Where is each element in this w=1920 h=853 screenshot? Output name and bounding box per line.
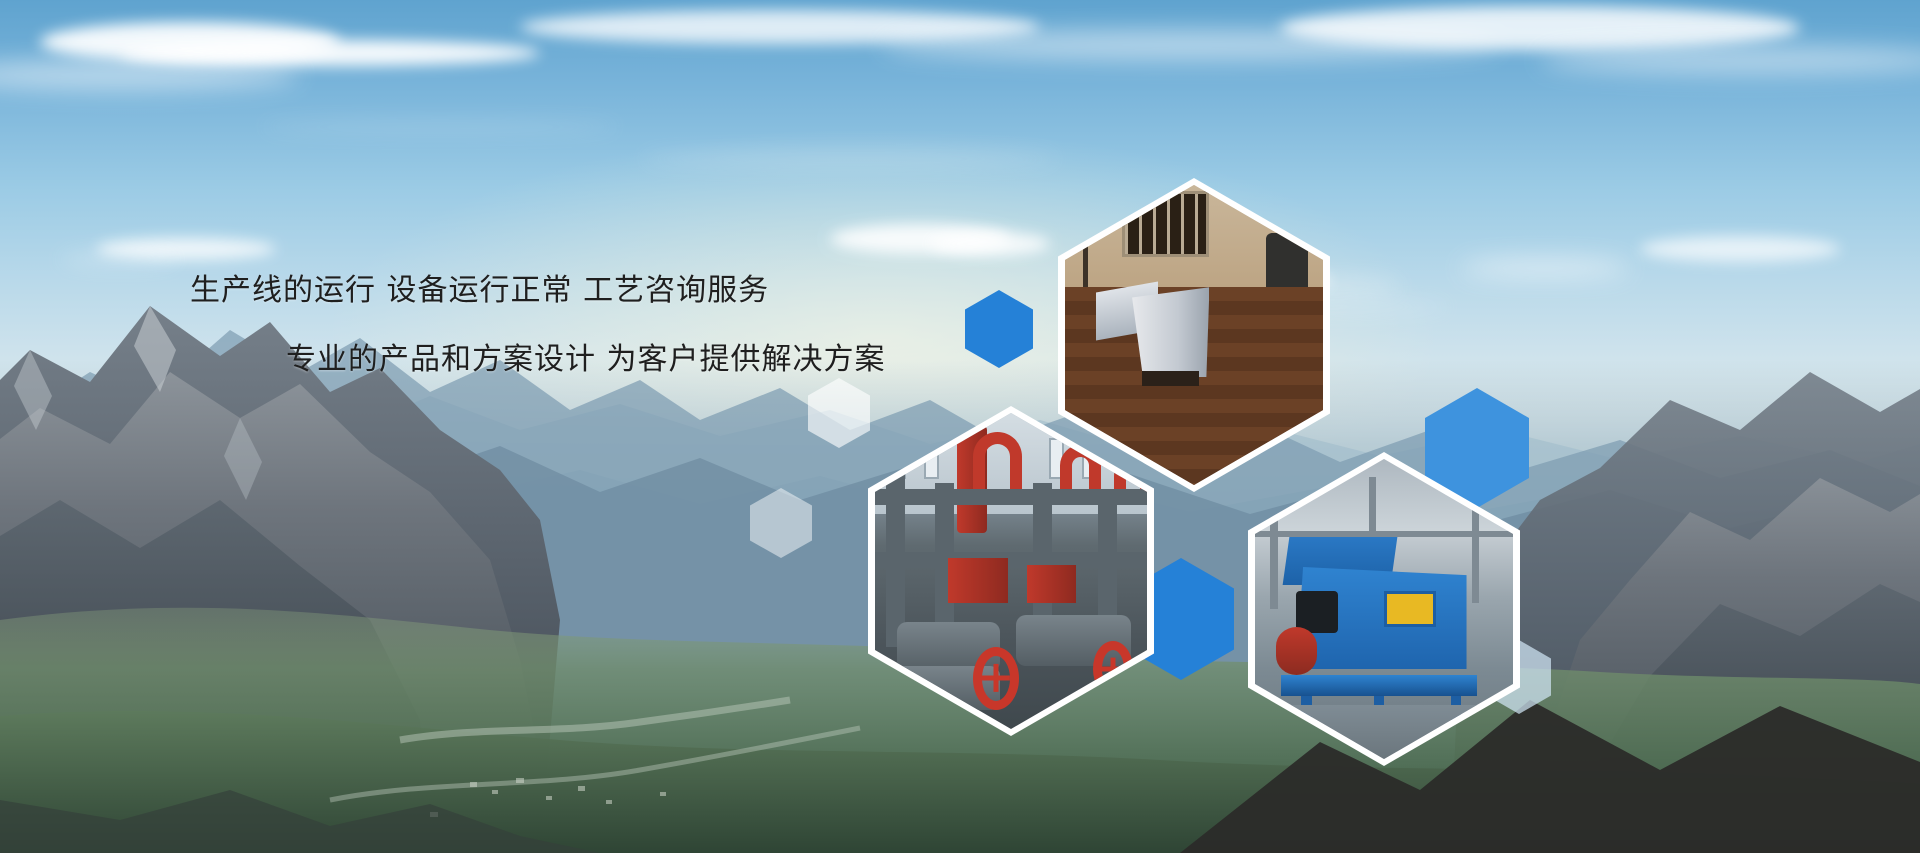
foreground-dark-ridge	[0, 0, 1920, 853]
headline-line-2: 专业的产品和方案设计 为客户提供解决方案	[190, 337, 950, 384]
hero-banner: 生产线的运行 设备运行正常 工艺咨询服务 专业的产品和方案设计 为客户提供解决方…	[0, 0, 1920, 853]
headline-block: 生产线的运行 设备运行正常 工艺咨询服务 专业的产品和方案设计 为客户提供解决方…	[190, 268, 950, 383]
headline-line-1: 生产线的运行 设备运行正常 工艺咨询服务	[190, 268, 950, 315]
